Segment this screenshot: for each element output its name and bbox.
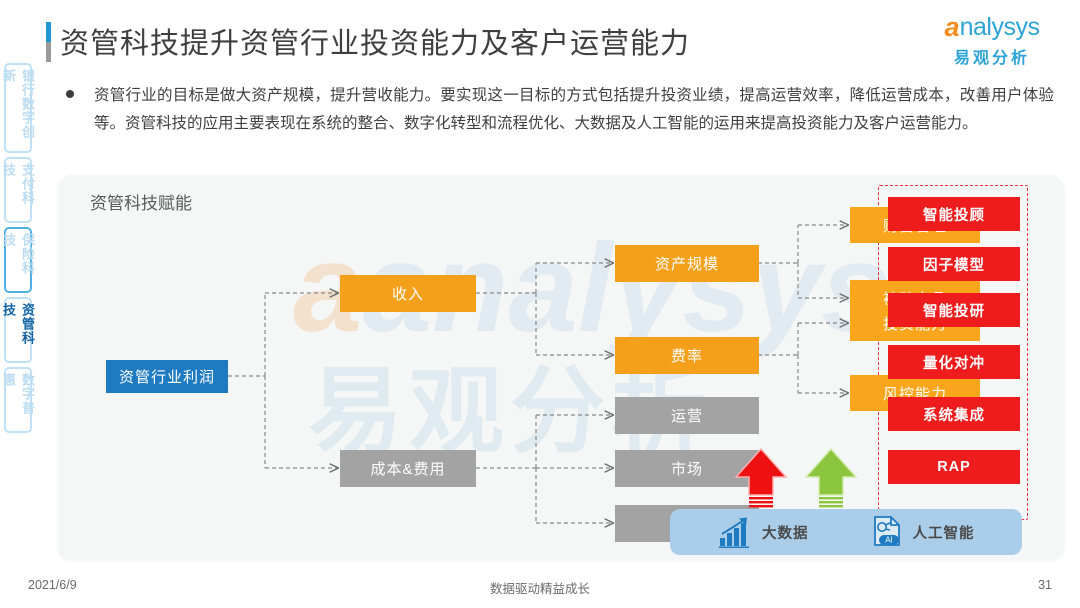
ai-document-icon: AI	[871, 515, 903, 549]
footer-page-number: 31	[1038, 578, 1052, 592]
red-up-arrow-icon	[731, 447, 791, 509]
body-paragraph: 资管行业的目标是做大资产规模，提升营收能力。要实现这一目标的方式包括提升投资业绩…	[94, 82, 1054, 138]
enabler-bar: 大数据 AI 人工智能	[670, 509, 1022, 555]
enabler-ai[interactable]: AI 人工智能	[871, 515, 975, 549]
node-quant-hedging[interactable]: 量化对冲	[888, 345, 1020, 379]
diagram-card: aanalysys 易观分析 资管科技赋能	[58, 175, 1064, 560]
node-asset-management-profit[interactable]: 资管行业利润	[106, 360, 228, 393]
enabler-ai-label: 人工智能	[913, 522, 975, 543]
svg-text:AI: AI	[885, 536, 893, 545]
node-intelligent-research[interactable]: 智能投研	[888, 293, 1020, 327]
green-up-arrow-icon	[801, 447, 861, 509]
slide-page: 资管科技提升资管行业投资能力及客户运营能力 a nalysys 易观分析 银行数…	[0, 0, 1080, 608]
bar-chart-growth-icon	[718, 516, 752, 548]
logo-name-cn: 易观分析	[922, 44, 1062, 68]
logo-wordmark: a nalysys	[922, 14, 1062, 41]
node-operations[interactable]: 运营	[615, 397, 759, 434]
sidebar-item-insurance[interactable]: 保险科技	[4, 227, 32, 293]
logo-a-mark: a	[945, 14, 960, 41]
node-asset-scale[interactable]: 资产规模	[615, 245, 759, 282]
sidebar-tabs: 银行数字创新 支付科技 保险科技 资管科技 数字普惠	[4, 63, 34, 437]
sidebar-item-banking[interactable]: 银行数字创新	[4, 63, 32, 153]
sidebar-item-inclusive-finance[interactable]: 数字普惠	[4, 367, 32, 433]
sidebar-item-payment[interactable]: 支付科技	[4, 157, 32, 223]
sidebar-item-asset-management[interactable]: 资管科技	[4, 297, 32, 363]
footer-slogan: 数据驱动精益成长	[0, 578, 1080, 597]
node-fee-rate[interactable]: 费率	[615, 337, 759, 374]
node-cost-and-expense[interactable]: 成本&费用	[340, 450, 476, 487]
node-rap[interactable]: RAP	[888, 450, 1020, 484]
node-revenue[interactable]: 收入	[340, 275, 476, 312]
footer: 2021/6/9 数据驱动精益成长 31	[0, 578, 1080, 594]
enabler-big-data-label: 大数据	[762, 522, 809, 543]
page-title: 资管科技提升资管行业投资能力及客户运营能力	[60, 20, 690, 62]
node-factor-model[interactable]: 因子模型	[888, 247, 1020, 281]
title-accent-bar	[46, 22, 51, 62]
node-robo-advisor[interactable]: 智能投顾	[888, 197, 1020, 231]
analysys-logo: a nalysys 易观分析	[922, 14, 1062, 62]
logo-name: nalysys	[960, 15, 1040, 40]
enabler-big-data[interactable]: 大数据	[718, 516, 809, 548]
node-system-integration[interactable]: 系统集成	[888, 397, 1020, 431]
bullet-point-icon	[66, 90, 74, 98]
